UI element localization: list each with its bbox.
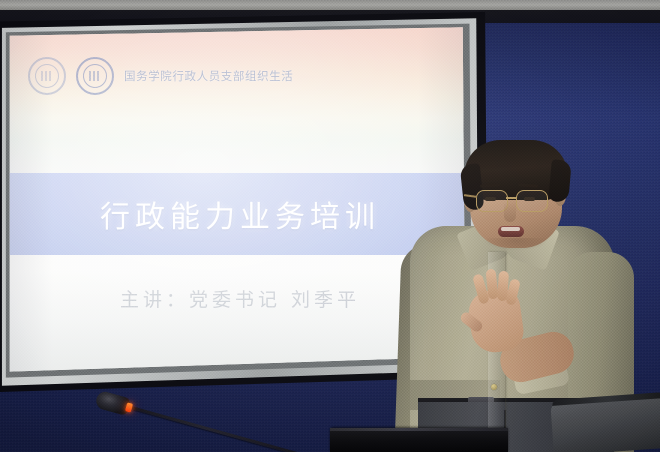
school-seal-icon	[76, 57, 114, 95]
university-seal-icon	[28, 57, 66, 95]
teeth	[501, 227, 520, 231]
hair-side-right	[548, 159, 572, 203]
shirt-button	[491, 384, 497, 390]
chin-shadow	[484, 238, 548, 252]
slide-title: 行政能力业务培训	[100, 192, 380, 236]
glasses-bridge	[506, 197, 517, 199]
slide-header: 国务学院行政人员支部组织生活	[6, 55, 474, 97]
glasses-right-lens	[516, 190, 548, 212]
monitor-top-edge	[330, 428, 508, 431]
desk-monitor	[330, 428, 508, 452]
nose	[504, 202, 516, 222]
lecture-room-photo: 国务学院行政人员支部组织生活 行政能力业务培训 主讲：党委书记 刘季平	[0, 0, 660, 452]
slide-header-text: 国务学院行政人员支部组织生活	[124, 68, 293, 84]
